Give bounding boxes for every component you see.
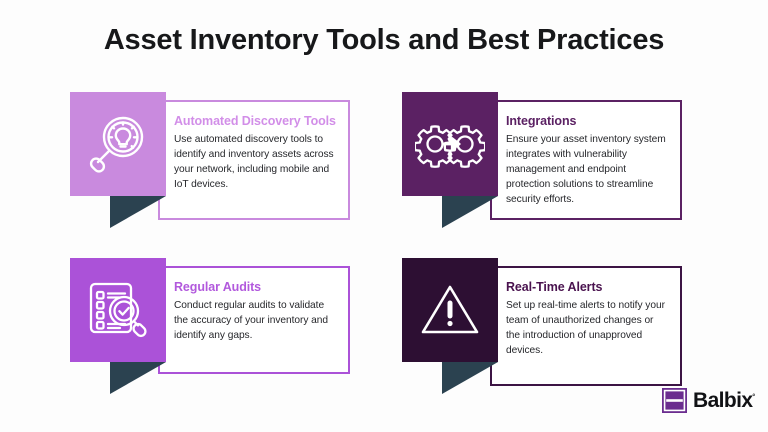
balbix-logo-mark bbox=[662, 388, 687, 413]
card-text-bubble: Integrations Ensure your asset inventory… bbox=[490, 100, 682, 220]
page-title: Asset Inventory Tools and Best Practices bbox=[0, 24, 768, 57]
card-fold-triangle bbox=[110, 196, 166, 228]
card-body: Use automated discovery tools to identif… bbox=[174, 132, 336, 192]
card-integrations[interactable]: Integrations Ensure your asset inventory… bbox=[402, 92, 682, 220]
card-heading: Integrations bbox=[506, 114, 668, 129]
card-heading: Regular Audits bbox=[174, 280, 336, 295]
card-automated-discovery-tools[interactable]: Automated Discovery Tools Use automated … bbox=[70, 92, 350, 220]
card-fold-triangle bbox=[442, 196, 498, 228]
card-heading: Automated Discovery Tools bbox=[174, 114, 336, 129]
card-regular-audits[interactable]: Regular Audits Conduct regular audits to… bbox=[70, 258, 350, 386]
balbix-logo[interactable]: Balbix° bbox=[662, 388, 755, 413]
card-text-bubble: Regular Audits Conduct regular audits to… bbox=[158, 266, 350, 374]
card-icon-block bbox=[402, 258, 498, 362]
slide-canvas: Asset Inventory Tools and Best Practices… bbox=[0, 0, 768, 432]
card-text-bubble: Real-Time Alerts Set up real-time alerts… bbox=[490, 266, 682, 386]
card-real-time-alerts[interactable]: Real-Time Alerts Set up real-time alerts… bbox=[402, 258, 682, 386]
balbix-wordmark-text: Balbix bbox=[693, 389, 752, 412]
card-fold-triangle bbox=[442, 362, 498, 394]
card-body: Conduct regular audits to validate the a… bbox=[174, 298, 336, 343]
card-icon-block bbox=[402, 92, 498, 196]
card-icon-block bbox=[70, 92, 166, 196]
card-heading: Real-Time Alerts bbox=[506, 280, 668, 295]
balbix-trademark: ° bbox=[752, 394, 754, 401]
card-icon-block bbox=[70, 258, 166, 362]
balbix-wordmark: Balbix° bbox=[693, 390, 755, 411]
card-text-bubble: Automated Discovery Tools Use automated … bbox=[158, 100, 350, 220]
card-fold-triangle bbox=[110, 362, 166, 394]
card-body: Set up real-time alerts to notify your t… bbox=[506, 298, 668, 358]
card-body: Ensure your asset inventory system integ… bbox=[506, 132, 668, 207]
